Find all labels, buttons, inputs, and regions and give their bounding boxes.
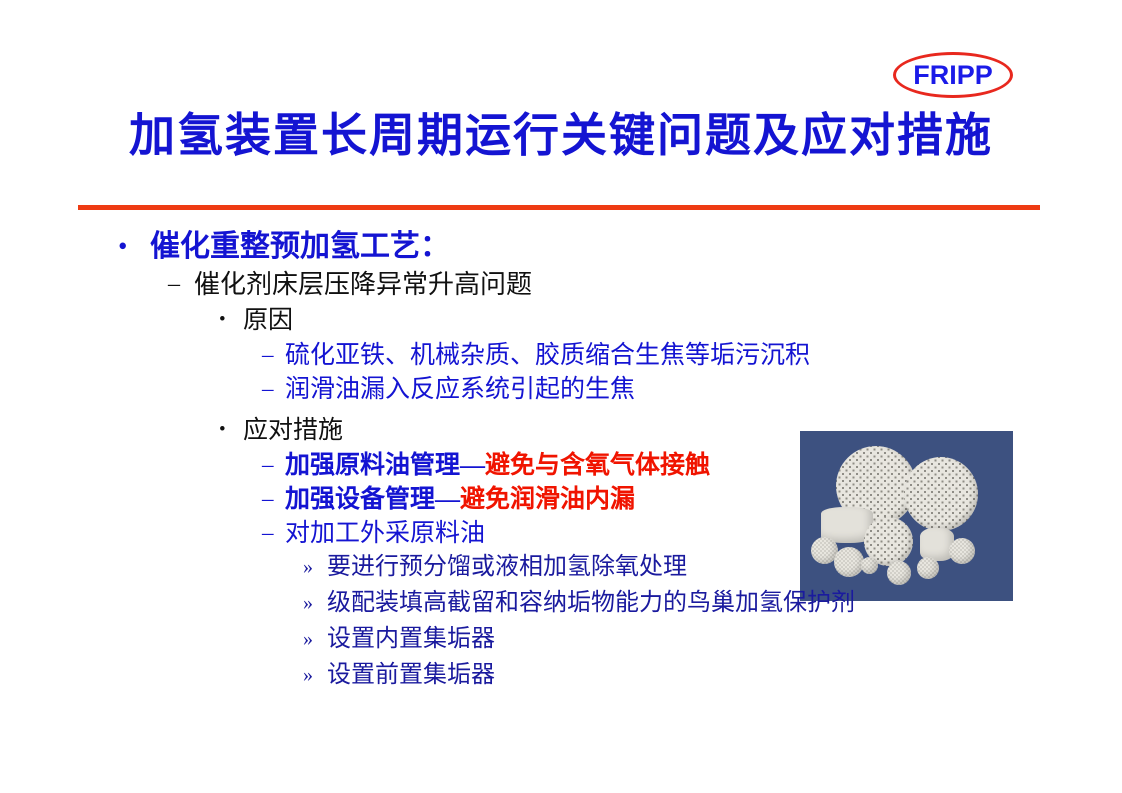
bullet-level5-icon: » (303, 551, 327, 583)
bullet-level3-icon: • (219, 304, 243, 336)
outline-text-sub-4: 设置前置集垢器 (327, 659, 495, 691)
measure-1-blue-part: 加强原料油管理 (285, 452, 460, 479)
outline-text-l2: 催化剂床层压降异常升高问题 (194, 268, 532, 302)
outline-text-sub-1: 要进行预分馏或液相加氢除氧处理 (327, 551, 687, 583)
outline-text-cause-2: 润滑油漏入反应系统引起的生焦 (285, 373, 635, 406)
outline-item-sub-4: » 设置前置集垢器 (303, 659, 1122, 691)
outline-item-measure-2: – 加强设备管理—避免润滑油内漏 (262, 483, 1122, 516)
outline-item-sub-2: » 级配装填高截留和容纳垢物能力的鸟巢加氢保护剂 (303, 587, 1122, 619)
bullet-level2-icon: – (168, 268, 194, 301)
measure-2-blue-part: 加强设备管理 (285, 486, 435, 513)
bullet-level4-icon: – (262, 339, 285, 371)
measure-2-dash: — (435, 486, 460, 513)
outline-text-cause-1: 硫化亚铁、机械杂质、胶质缩合生焦等垢污沉积 (285, 339, 810, 372)
slide: FRIPP 加氢装置长周期运行关键问题及应对措施 • 催化重整预加氢工艺： – … (0, 0, 1122, 793)
slide-title: 加氢装置长周期运行关键问题及应对措施 (0, 99, 1122, 165)
outline-text-measure-1: 加强原料油管理—避免与含氧气体接触 (285, 449, 710, 482)
fripp-logo: FRIPP (893, 52, 1013, 98)
bullet-level5-icon: » (303, 587, 327, 619)
fripp-logo-text: FRIPP (913, 62, 993, 89)
outline-item-sub-3: » 设置内置集垢器 (303, 623, 1122, 655)
outline-text-measure-3: 对加工外采原料油 (285, 517, 485, 550)
bullet-level5-icon: » (303, 659, 327, 691)
bullet-level1-icon: • (118, 228, 150, 264)
measure-2-red-part: 避免润滑油内漏 (460, 486, 635, 513)
outline-text-l3-cause: 原因 (243, 304, 293, 337)
outline-text-measure-2: 加强设备管理—避免润滑油内漏 (285, 483, 635, 516)
outline-item-l2: – 催化剂床层压降异常升高问题 (168, 268, 1122, 302)
outline-item-l3-measures: • 应对措施 (219, 414, 1122, 447)
bullet-level4-icon: – (262, 449, 285, 481)
bullet-level5-icon: » (303, 623, 327, 655)
outline-text-l1: 催化重整预加氢工艺： (150, 228, 450, 266)
outline-item-measure-3: – 对加工外采原料油 (262, 517, 1122, 550)
title-divider-rule (78, 205, 1040, 210)
outline-body: • 催化重整预加氢工艺： – 催化剂床层压降异常升高问题 • 原因 – 硫化亚铁… (0, 228, 1122, 695)
bullet-level3-icon: • (219, 414, 243, 446)
measure-1-dash: — (460, 452, 485, 479)
bullet-level4-icon: – (262, 517, 285, 549)
outline-item-l3-cause: • 原因 (219, 304, 1122, 337)
outline-item-measure-1: – 加强原料油管理—避免与含氧气体接触 (262, 449, 1122, 482)
outline-text-l3-measures: 应对措施 (243, 414, 343, 447)
outline-item-sub-1: » 要进行预分馏或液相加氢除氧处理 (303, 551, 1122, 583)
outline-item-cause-2: – 润滑油漏入反应系统引起的生焦 (262, 373, 1122, 406)
outline-item-l1: • 催化重整预加氢工艺： (118, 228, 1122, 266)
bullet-level4-icon: – (262, 373, 285, 405)
outline-text-sub-2: 级配装填高截留和容纳垢物能力的鸟巢加氢保护剂 (327, 587, 855, 619)
measure-1-red-part: 避免与含氧气体接触 (485, 452, 710, 479)
outline-item-cause-1: – 硫化亚铁、机械杂质、胶质缩合生焦等垢污沉积 (262, 339, 1122, 372)
bullet-level4-icon: – (262, 483, 285, 515)
outline-text-sub-3: 设置内置集垢器 (327, 623, 495, 655)
